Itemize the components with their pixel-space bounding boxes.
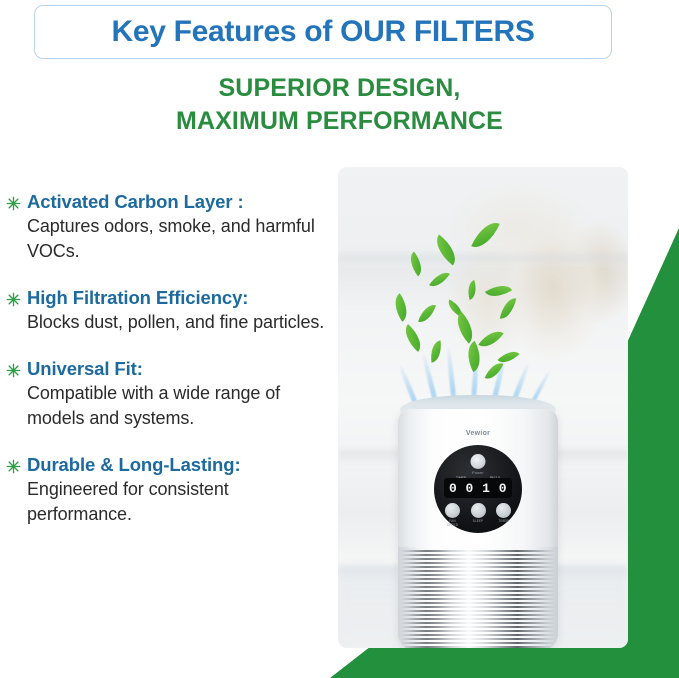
vent-slat: [402, 590, 554, 592]
vent-slat: [402, 626, 554, 628]
vent-slat: [402, 634, 554, 636]
timer-button[interactable]: TIMER: [495, 503, 512, 527]
vent-slat: [402, 618, 554, 620]
device-control-panel[interactable]: Power TIMER PM 2.5 0 0 1 0 FAN SPEED: [434, 445, 522, 533]
page-subtitle-line2: MAXIMUM PERFORMANCE: [0, 105, 679, 138]
page-subtitle-line1: SUPERIOR DESIGN,: [0, 72, 679, 105]
vent-slat: [402, 586, 554, 588]
vent-slat: [402, 554, 554, 556]
feature-title: Universal Fit:: [27, 357, 330, 381]
page-title-bold: OUR FILTERS: [340, 15, 534, 48]
feature-title: Durable & Long-Lasting:: [27, 453, 330, 477]
vent-slat: [402, 558, 554, 560]
vent-slat: [402, 602, 554, 604]
feature-item: High Filtration Efficiency: Blocks dust,…: [0, 286, 330, 335]
vent-slat: [402, 606, 554, 608]
feature-item: Activated Carbon Layer : Captures odors,…: [0, 190, 330, 264]
star-asterisk-icon: [6, 459, 21, 474]
vent-slat: [402, 598, 554, 600]
feature-description: Blocks dust, pollen, and fine particles.: [27, 310, 330, 335]
vent-slat: [402, 630, 554, 632]
product-image: Vewior Power TIMER PM 2.5 0 0 1 0: [338, 167, 628, 648]
feature-item: Durable & Long-Lasting: Engineered for c…: [0, 453, 330, 527]
feature-list: Activated Carbon Layer : Captures odors,…: [0, 190, 330, 527]
vent-slat: [402, 582, 554, 584]
vent-slat: [402, 566, 554, 568]
air-purifier-device: Vewior Power TIMER PM 2.5 0 0 1 0: [398, 395, 558, 648]
vent-slat: [402, 574, 554, 576]
power-button[interactable]: [471, 454, 486, 469]
device-body: Vewior Power TIMER PM 2.5 0 0 1 0: [398, 409, 558, 648]
page-title-light: Key Features of: [111, 15, 340, 48]
feature-title: High Filtration Efficiency:: [27, 286, 330, 310]
device-display: 0 0 1 0: [444, 478, 512, 498]
vent-slat: [402, 638, 554, 640]
sleep-mode-label: SLEEP: [470, 519, 487, 523]
display-value: 0 0 1 0: [449, 482, 507, 495]
feature-description: Engineered for consistent performance.: [27, 477, 330, 527]
page-title: Key Features of OUR FILTERS: [111, 15, 534, 49]
fan-speed-button[interactable]: FAN SPEED: [444, 503, 461, 527]
page-title-box: Key Features of OUR FILTERS: [34, 5, 612, 59]
vent-slat: [402, 642, 554, 644]
vent-slat: [402, 550, 554, 552]
vent-slat: [402, 570, 554, 572]
feature-description: Captures odors, smoke, and harmful VOCs.: [27, 214, 330, 264]
sleep-mode-button[interactable]: SLEEP: [470, 503, 487, 527]
star-asterisk-icon: [6, 196, 21, 211]
device-button-row: FAN SPEED SLEEP TIMER: [444, 503, 512, 527]
green-accent-right: [628, 228, 679, 678]
timer-icon: [496, 503, 511, 518]
feature-description: Compatible with a wide range of models a…: [27, 381, 330, 431]
page-subtitle: SUPERIOR DESIGN, MAXIMUM PERFORMANCE: [0, 72, 679, 138]
power-button-label: Power: [434, 471, 522, 475]
timer-label: TIMER: [495, 519, 512, 523]
vent-slat: [402, 622, 554, 624]
vent-slat: [402, 562, 554, 564]
infographic-page: Key Features of OUR FILTERS SUPERIOR DES…: [0, 0, 679, 678]
star-asterisk-icon: [6, 363, 21, 378]
vent-slat: [402, 578, 554, 580]
background-shelf-line: [338, 255, 628, 265]
vent-slat: [402, 646, 554, 648]
vent-slat: [402, 614, 554, 616]
sleep-mode-icon: [471, 503, 486, 518]
fan-speed-icon: [445, 503, 460, 518]
star-asterisk-icon: [6, 292, 21, 307]
feature-title: Activated Carbon Layer :: [27, 190, 330, 214]
vent-slat: [402, 594, 554, 596]
fan-speed-label: FAN SPEED: [444, 519, 461, 527]
vent-slat: [402, 610, 554, 612]
feature-item: Universal Fit: Compatible with a wide ra…: [0, 357, 330, 431]
device-vent-grill: [398, 547, 558, 648]
device-brand-label: Vewior: [398, 430, 558, 437]
